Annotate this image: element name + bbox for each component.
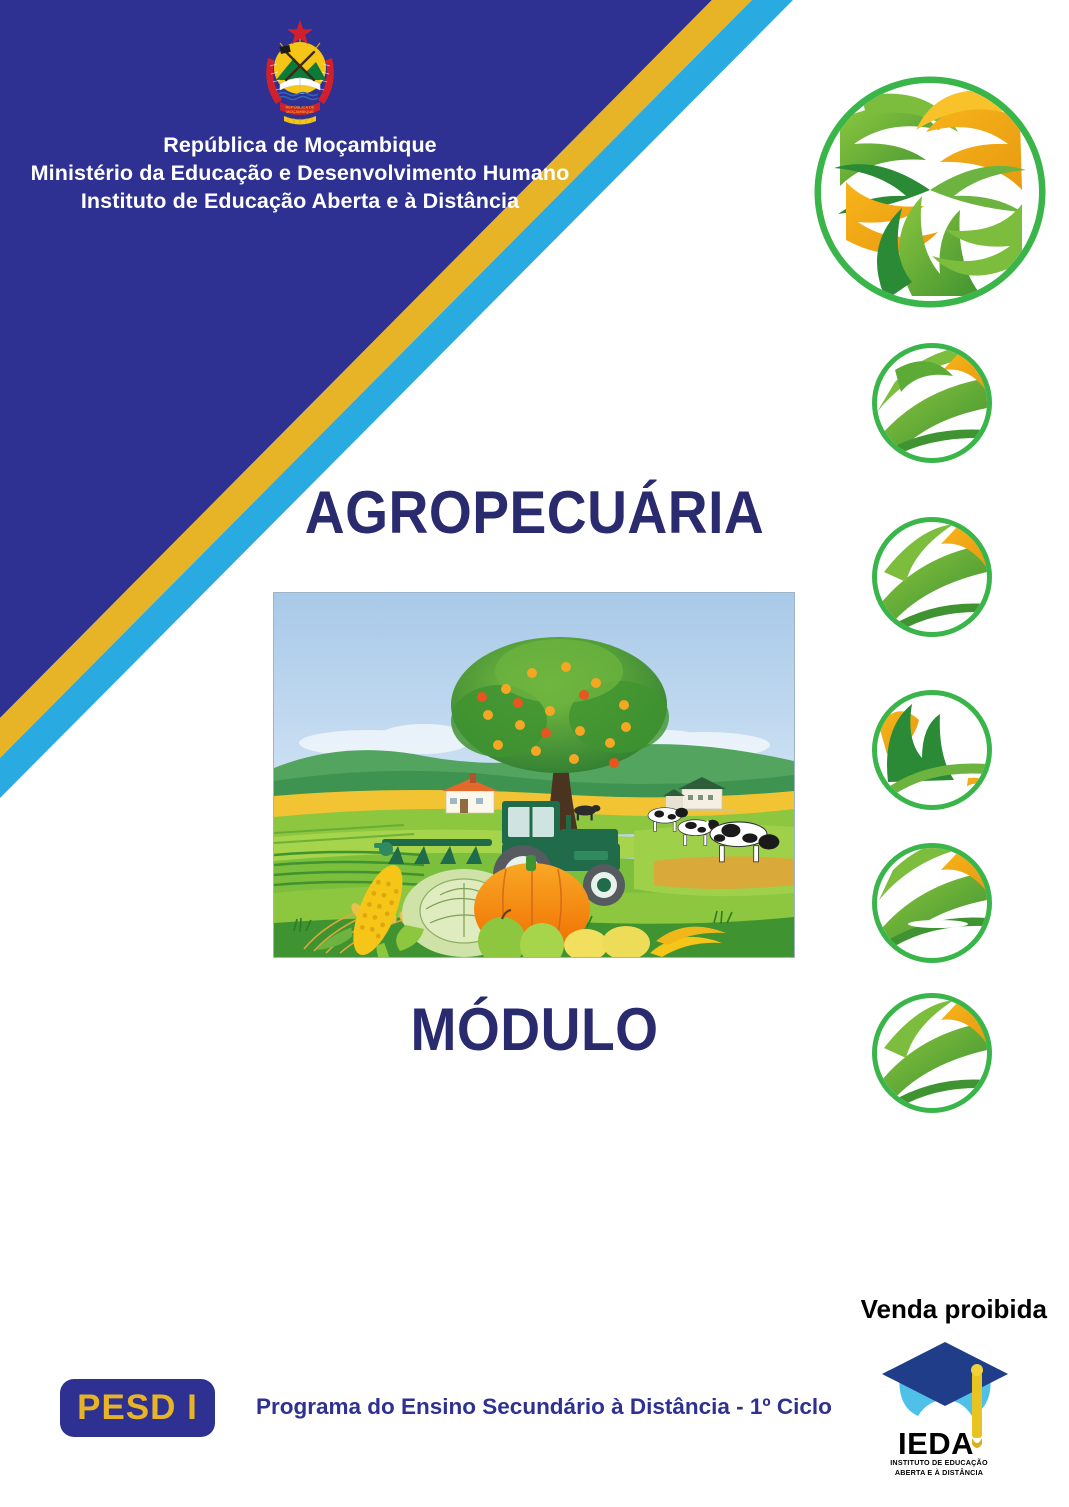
- header-line-3: Instituto de Educação Aberta e à Distânc…: [0, 188, 600, 216]
- mozambique-coat-of-arms-icon: REPÚBLICA DE MOÇAMBIQUE: [250, 18, 350, 128]
- header-line-2: Ministério da Educação e Desenvolvimento…: [0, 160, 600, 188]
- footer-tagline: Programa do Ensino Secundário à Distânci…: [256, 1394, 832, 1420]
- svg-text:MOÇAMBIQUE: MOÇAMBIQUE: [286, 109, 314, 114]
- leaf-circle-small-4: [875, 832, 989, 960]
- ieda-wordmark: IEDA: [884, 1426, 988, 1462]
- header-block: REPÚBLICA DE MOÇAMBIQUE República de Moç…: [0, 18, 600, 216]
- farm-landscape-illustration: [273, 592, 795, 958]
- cover-page: REPÚBLICA DE MOÇAMBIQUE República de Moç…: [0, 0, 1069, 1507]
- header-line-1: República de Moçambique: [0, 132, 600, 160]
- page-title-subject: AGROPECUÁRIA: [43, 478, 1026, 547]
- header-text: República de Moçambique Ministério da Ed…: [0, 132, 600, 216]
- ieda-subtitle-line1: INSTITUTO DE EDUCAÇÃO: [880, 1458, 998, 1467]
- pesd-badge: PESD I: [60, 1379, 215, 1437]
- leaf-circle-small-3: [875, 693, 989, 807]
- ieda-subtitle-line2: ABERTA E À DISTÂNCIA: [880, 1468, 998, 1477]
- farm-scene-svg: [274, 593, 794, 957]
- emblem-wrap: REPÚBLICA DE MOÇAMBIQUE: [0, 18, 600, 128]
- page-title-module: MÓDULO: [43, 995, 1026, 1064]
- leaf-circle-small-1: [875, 342, 989, 460]
- pesd-badge-label: PESD I: [77, 1388, 198, 1428]
- venda-proibida-text: Venda proibida: [861, 1294, 1047, 1325]
- leaf-circle-large: [818, 80, 1042, 304]
- ieda-logo: IEDA INSTITUTO DE EDUCAÇÃO ABERTA E À DI…: [878, 1338, 1012, 1480]
